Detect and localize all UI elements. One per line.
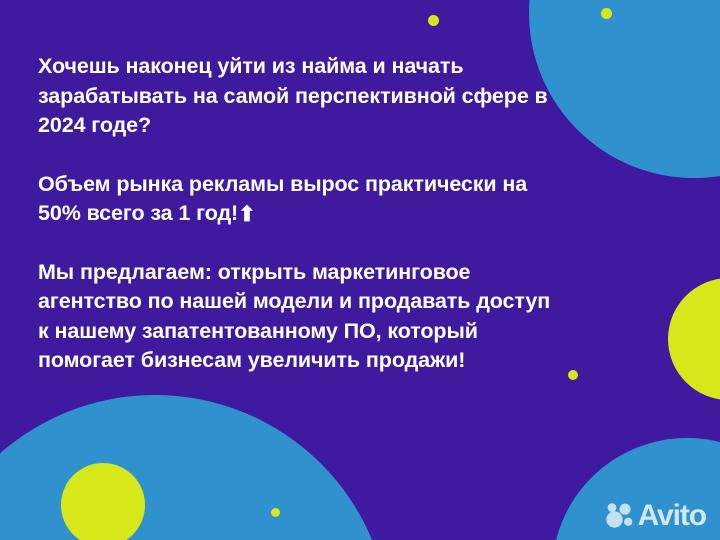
headline-paragraph: Хочешь наконец уйти из найма и начать за… [38,52,558,141]
avito-dots-logo-icon [605,503,635,529]
decorative-dot-top-right [601,8,612,19]
decorative-blue-circle-bottom-left [0,395,390,540]
avito-watermark: Avito [605,501,706,531]
decorative-dot-bottom-left [271,508,280,517]
decorative-dot-top-center [428,15,439,26]
decorative-yellow-circle-bottom-left [61,463,145,540]
promo-copy-block: Хочешь наконец уйти из найма и начать за… [38,52,558,376]
decorative-yellow-circle-right [668,278,720,400]
promo-banner: Хочешь наконец уйти из найма и начать за… [0,0,720,540]
market-growth-text: Объем рынка рекламы вырос практически на… [38,172,527,226]
offer-paragraph: Мы предлагаем: открыть маркетинговое аге… [38,258,558,376]
decorative-dot-middle-right [568,370,578,380]
avito-wordmark: Avito [638,501,706,531]
market-growth-paragraph: Объем рынка рекламы вырос практически на… [38,170,558,229]
arrow-up-icon: ⬆ [238,204,256,225]
